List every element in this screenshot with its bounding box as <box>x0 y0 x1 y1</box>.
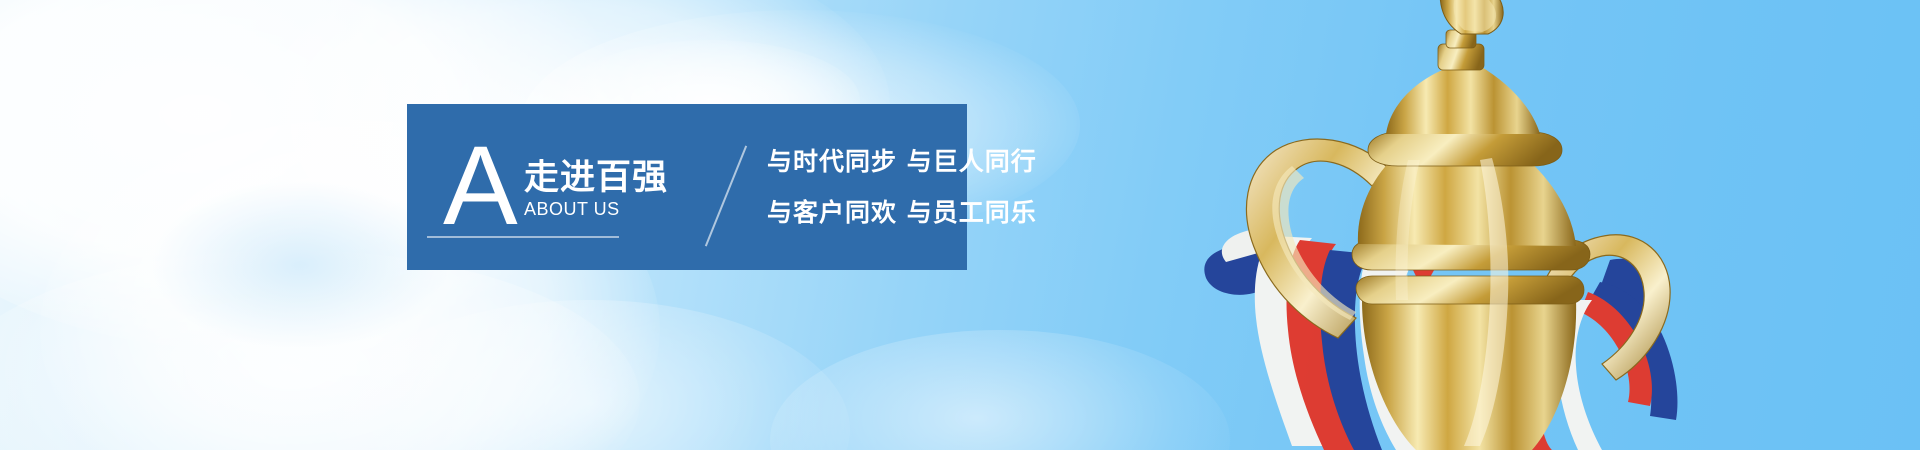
slogan-group: 与时代同步 与巨人同行 与客户同欢 与员工同乐 <box>757 104 1037 270</box>
trophy-image <box>1180 0 1740 450</box>
title-underline <box>427 236 619 238</box>
page-title-cn: 走进百强 <box>524 160 699 197</box>
page-title-en: ABOUT US <box>524 200 699 220</box>
about-heading-group: 走进百强 ABOUT US <box>524 160 699 220</box>
about-us-banner: A 走进百强 ABOUT US 与时代同步 与巨人同行 与客户同欢 与员工同乐 <box>0 0 1920 450</box>
monogram-a: A <box>443 130 518 242</box>
slogan-line-1: 与时代同步 与巨人同行 <box>767 149 1037 174</box>
diagonal-divider-icon <box>699 104 757 270</box>
slogan-line-2: 与客户同欢 与员工同乐 <box>767 200 1037 225</box>
about-panel-left: A 走进百强 ABOUT US <box>407 104 699 270</box>
about-panel: A 走进百强 ABOUT US 与时代同步 与巨人同行 与客户同欢 与员工同乐 <box>407 104 967 270</box>
